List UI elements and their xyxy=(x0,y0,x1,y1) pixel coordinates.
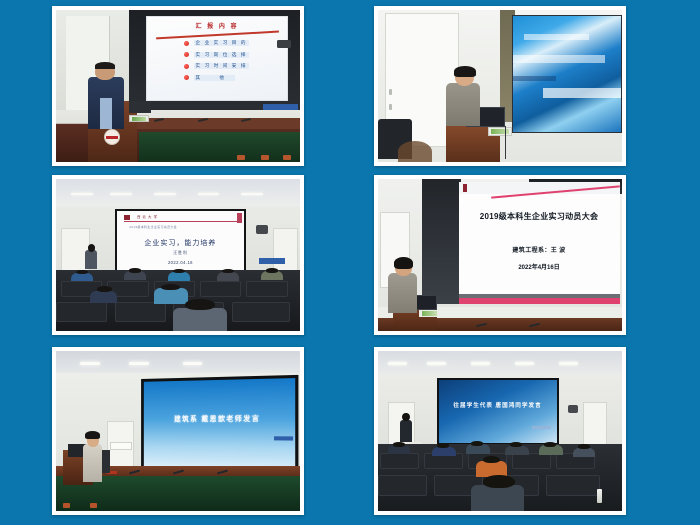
list-item: 其 他 xyxy=(184,75,276,81)
cable xyxy=(505,126,506,159)
photo-middle-left-image: 西 北 大 学 2019级本科生企业实习动员大会 企业实习，能力培养 汪胜利 2… xyxy=(56,179,300,331)
slide-rule-line xyxy=(156,30,279,38)
audience-head xyxy=(544,442,556,447)
screen-corner-tag xyxy=(273,436,292,440)
seat xyxy=(378,475,427,497)
wooden-chair xyxy=(398,141,432,162)
projection-bezel: 往届学生代表 唐国鸿同学发言 xyxy=(437,378,559,445)
speaker-body xyxy=(388,273,417,313)
audience-head xyxy=(129,268,141,272)
display-band xyxy=(543,88,621,98)
slide-bullet-1: 企 业 实 习 目 的 xyxy=(194,40,250,46)
slide-subtitle: 2019级本科生企业实习动员大会 xyxy=(129,225,177,229)
photo-bottom-right[interactable]: 往届学生代表 唐国鸿同学发言 xyxy=(374,347,626,515)
slide-bullet-4: 其 他 xyxy=(194,75,235,81)
slide-department: 建筑工程系：王 波 xyxy=(459,245,620,254)
list-item: 企 业 实 习 目 的 xyxy=(184,40,276,46)
audience-head xyxy=(578,444,590,449)
camera-icon xyxy=(256,225,268,234)
bullet-dot-icon xyxy=(184,64,189,69)
ceiling-light-icon xyxy=(515,362,535,365)
slide-title: 往届学生代表 唐国鸿同学发言 xyxy=(439,401,557,409)
ceiling-light-icon xyxy=(241,193,263,196)
speaker-hair xyxy=(394,257,414,269)
projector-icon xyxy=(277,40,292,48)
projection-screen: 汇 报 内 容 企 业 实 习 目 的 实 习 岗 位 选 择 实 习 时 间 … xyxy=(146,16,288,101)
ceiling-light-icon xyxy=(198,193,220,196)
seat xyxy=(200,281,241,297)
photo-collage: 汇 报 内 容 企 业 实 习 目 的 实 习 岗 位 选 择 实 习 时 间 … xyxy=(0,0,700,525)
photo-middle-right[interactable]: 2019级本科生企业实习动员大会 建筑工程系：王 波 2022年4月16日 女教… xyxy=(374,175,626,335)
seat xyxy=(380,453,419,469)
wall-sign xyxy=(110,442,132,450)
audience-head xyxy=(510,442,522,447)
dark-wall-panel xyxy=(422,179,461,304)
side-door xyxy=(583,402,607,447)
seat xyxy=(546,475,600,497)
audience-torso xyxy=(217,272,239,281)
presenter-body xyxy=(400,420,412,444)
audience-head xyxy=(471,441,483,446)
seat xyxy=(56,302,107,323)
speaker-shirt xyxy=(100,98,112,128)
display-band xyxy=(513,55,605,63)
photo-bottom-left[interactable]: 建筑系 戴恩歆老师发言 大屏幕显示发言标题，主讲人在左侧讲台 xyxy=(52,347,304,515)
projection-slide: 往届学生代表 唐国鸿同学发言 xyxy=(439,380,557,443)
slide-bullet-3: 实 习 时 间 安 排 xyxy=(194,63,250,69)
audience-torso xyxy=(90,291,117,303)
audience-torso xyxy=(261,271,283,280)
ceiling-light-icon xyxy=(154,193,176,196)
slide-accent-block xyxy=(237,213,242,223)
audience-head xyxy=(266,268,278,272)
slide-title: 汇 报 内 容 xyxy=(147,21,287,30)
speaker-hair xyxy=(85,431,100,439)
university-emblem-icon xyxy=(104,129,120,145)
seat xyxy=(232,302,291,323)
slide-rule-line xyxy=(124,221,236,222)
audience-head xyxy=(483,475,515,488)
projection-bezel: 西 北 大 学 2019级本科生企业实习动员大会 企业实习，能力培养 汪胜利 2… xyxy=(115,209,247,276)
ceiling-light-icon xyxy=(471,362,491,365)
university-logo xyxy=(463,184,505,191)
name-plate xyxy=(129,115,149,123)
screen-surface: 建筑系 戴恩歆老师发言 xyxy=(143,378,294,475)
audience-head xyxy=(161,284,181,291)
audience-seating xyxy=(378,444,622,511)
audience-head xyxy=(393,442,405,447)
speaker-hair xyxy=(95,62,115,70)
audience-head xyxy=(185,299,214,310)
audience-torso xyxy=(124,271,146,280)
speaker-hair xyxy=(454,66,476,77)
side-door xyxy=(273,228,297,274)
audience-torso xyxy=(71,273,93,282)
audience-torso xyxy=(154,288,188,304)
flower-pot xyxy=(283,155,291,160)
speaker-body xyxy=(83,444,103,482)
seat xyxy=(512,453,551,469)
audience-head xyxy=(97,286,112,292)
audience-torso xyxy=(173,308,227,331)
display-band xyxy=(513,76,556,81)
seat xyxy=(115,302,166,323)
slide-date: 2022.04.16 xyxy=(117,260,245,265)
projection-slide: 西 北 大 学 2019级本科生企业实习动员大会 企业实习，能力培养 汪胜利 2… xyxy=(117,211,245,274)
bullet-dot-icon xyxy=(184,41,189,46)
bullet-dot-icon xyxy=(184,52,189,57)
audience-head xyxy=(437,443,449,448)
audience-seating xyxy=(56,270,300,331)
flower-pot xyxy=(63,503,70,508)
audience-torso xyxy=(432,447,456,456)
slide-presenter: 汪胜利 xyxy=(117,250,245,256)
photo-bottom-left-image: 建筑系 戴恩歆老师发言 大屏幕显示发言标题，主讲人在左侧讲台 xyxy=(56,351,300,511)
projection-slide: 2019级本科生企业实习动员大会 建筑工程系：王 波 2022年4月16日 xyxy=(459,182,620,304)
seat xyxy=(246,281,287,297)
slide-footer-accent xyxy=(459,298,620,304)
audience-torso xyxy=(539,445,563,454)
ceiling-light-icon xyxy=(427,362,447,365)
slide-title: 建筑系 戴恩歆老师发言 xyxy=(143,413,294,424)
photo-top-left[interactable]: 汇 报 内 容 企 业 实 习 目 的 实 习 岗 位 选 择 实 习 时 间 … xyxy=(52,6,304,166)
audience-head xyxy=(483,456,500,463)
bullet-dot-icon xyxy=(184,75,189,80)
ceiling-light-icon xyxy=(183,362,203,365)
large-projection-screen: 建筑系 戴恩歆老师发言 xyxy=(141,374,298,477)
screen-corner-tag xyxy=(259,258,286,264)
audience-torso xyxy=(466,444,490,453)
photo-bottom-right-image: 往届学生代表 唐国鸿同学发言 xyxy=(378,351,622,511)
audience-torso xyxy=(168,272,190,281)
ceiling-light-icon xyxy=(71,193,93,196)
photo-top-left-image: 汇 报 内 容 企 业 实 习 目 的 实 习 岗 位 选 择 实 习 时 间 … xyxy=(56,10,300,162)
list-item: 实 习 时 间 安 排 xyxy=(184,63,276,69)
photo-top-right-image: 女教师在讲台发言，旁边蓝色显示屏 xyxy=(378,10,622,162)
speaker-body xyxy=(446,83,480,126)
presenter-body xyxy=(85,250,97,268)
ceiling-light-icon xyxy=(80,362,100,365)
stage-plants xyxy=(139,132,300,162)
flower-pot xyxy=(90,503,97,508)
stage-desk xyxy=(124,118,300,129)
photo-middle-left[interactable]: 西 北 大 学 2019级本科生企业实习动员大会 企业实习，能力培养 汪胜利 2… xyxy=(52,175,304,335)
screen-corner-tag xyxy=(532,426,551,429)
slide-main-title: 企业实习，能力培养 xyxy=(117,238,245,248)
audience-torso xyxy=(505,446,529,455)
door-handle-icon xyxy=(389,89,392,95)
flower-pot xyxy=(261,155,269,160)
presenter-head xyxy=(88,244,95,252)
ceiling-light-icon xyxy=(559,362,579,365)
slide-date: 2022年4月16日 xyxy=(459,262,620,271)
ceiling-light-icon xyxy=(388,362,408,365)
blue-display-screen xyxy=(512,15,622,134)
ceiling-light-icon xyxy=(129,362,149,365)
list-item: 实 习 岗 位 选 择 xyxy=(184,52,276,58)
audience-head xyxy=(76,270,88,274)
university-logo-text: 西 北 大 学 xyxy=(137,214,158,219)
audience-torso xyxy=(573,448,595,457)
door-lock-icon xyxy=(389,104,392,110)
slide-bullet-list: 企 业 实 习 目 的 实 习 岗 位 选 择 实 习 时 间 安 排 其 他 xyxy=(184,40,276,86)
laptop xyxy=(129,101,151,113)
ceiling-light-icon xyxy=(110,193,132,196)
audience-torso xyxy=(471,485,525,511)
flower-pot xyxy=(237,155,245,160)
slide-title: 2019级本科生企业实习动员大会 xyxy=(459,211,620,222)
display-band xyxy=(524,34,589,40)
photo-middle-right-image: 2019级本科生企业实习动员大会 建筑工程系：王 波 2022年4月16日 女教… xyxy=(378,179,622,331)
slide-bullet-2: 实 习 岗 位 选 择 xyxy=(194,52,250,58)
name-plate xyxy=(488,127,512,136)
name-plate xyxy=(419,310,439,318)
photo-top-right[interactable]: 女教师在讲台发言，旁边蓝色显示屏 xyxy=(374,6,626,166)
camera-icon xyxy=(568,405,578,413)
water-bottle xyxy=(597,489,602,503)
audience-head xyxy=(222,269,234,273)
ceiling xyxy=(56,179,300,209)
